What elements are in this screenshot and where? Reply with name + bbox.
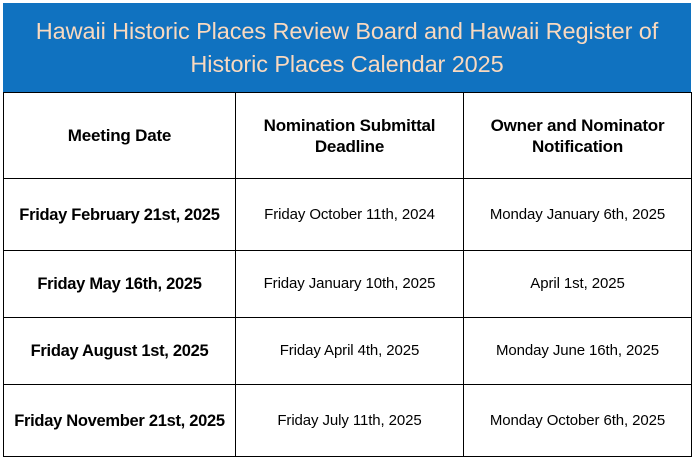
table-row: Friday August 1st, 2025 Friday April 4th… [4,318,692,385]
cell-meeting-date: Friday August 1st, 2025 [4,318,236,385]
cell-nomination-deadline: Friday July 11th, 2025 [236,385,464,457]
page-title: Hawaii Historic Places Review Board and … [3,15,691,81]
table-row: Friday November 21st, 2025 Friday July 1… [4,385,692,457]
title-banner: Hawaii Historic Places Review Board and … [3,3,691,92]
cell-meeting-date: Friday May 16th, 2025 [4,251,236,318]
cell-nomination-deadline: Friday January 10th, 2025 [236,251,464,318]
cell-owner-notification: Monday June 16th, 2025 [464,318,692,385]
cell-nomination-deadline: Friday October 11th, 2024 [236,179,464,251]
column-header-meeting-date: Meeting Date [4,93,236,179]
calendar-table: Meeting Date Nomination Submittal Deadli… [3,92,692,457]
cell-meeting-date: Friday February 21st, 2025 [4,179,236,251]
table-row: Friday February 21st, 2025 Friday Octobe… [4,179,692,251]
cell-owner-notification: Monday October 6th, 2025 [464,385,692,457]
column-header-owner-notification: Owner and Nominator Notification [464,93,692,179]
cell-nomination-deadline: Friday April 4th, 2025 [236,318,464,385]
column-header-nomination-deadline: Nomination Submittal Deadline [236,93,464,179]
table-row: Friday May 16th, 2025 Friday January 10t… [4,251,692,318]
cell-owner-notification: Monday January 6th, 2025 [464,179,692,251]
table-header-row: Meeting Date Nomination Submittal Deadli… [4,93,692,179]
cell-meeting-date: Friday November 21st, 2025 [4,385,236,457]
cell-owner-notification: April 1st, 2025 [464,251,692,318]
calendar-document: Hawaii Historic Places Review Board and … [0,0,697,460]
